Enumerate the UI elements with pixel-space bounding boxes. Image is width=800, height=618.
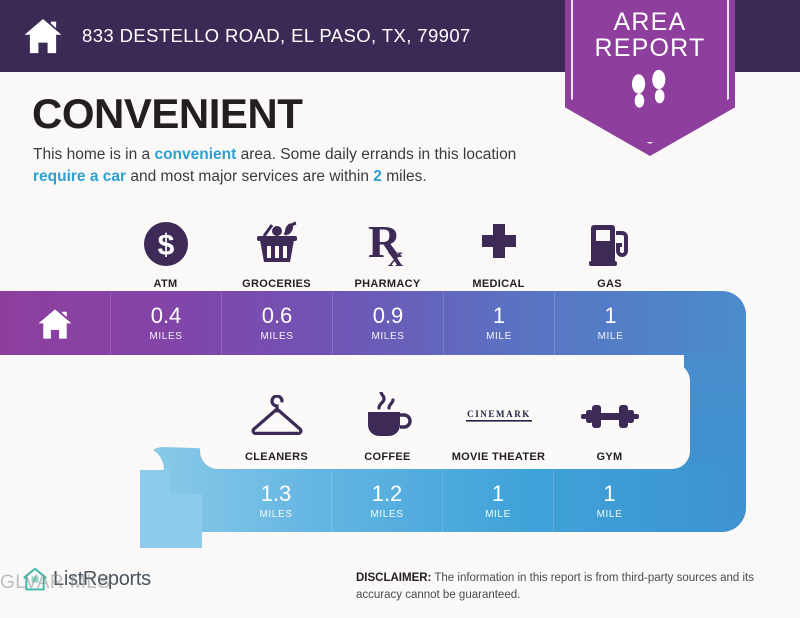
blurb-part-1: This home is in a bbox=[33, 146, 154, 163]
badge-line-1: AREA bbox=[614, 10, 687, 36]
distance-value: 1 bbox=[493, 305, 505, 327]
amenity-gym: GYM bbox=[554, 385, 665, 463]
distance-unit: MILES bbox=[149, 331, 182, 342]
blurb-part-2: area. Some daily errands in this locatio… bbox=[236, 146, 516, 163]
amenity-medical: MEDICAL bbox=[443, 210, 554, 290]
disclaimer-label: DISCLAIMER: bbox=[356, 572, 431, 584]
distance-cell-pharmacy: 0.9 MILES bbox=[333, 292, 444, 355]
distance-cell-groceries: 0.6 MILES bbox=[222, 292, 333, 355]
amenity-label: CLEANERS bbox=[245, 451, 308, 463]
home-origin-cell bbox=[0, 292, 111, 355]
footprints-icon bbox=[623, 69, 677, 113]
house-icon bbox=[36, 307, 74, 341]
distance-cell-medical: 1 MILE bbox=[444, 292, 555, 355]
amenity-label: MEDICAL bbox=[472, 278, 524, 290]
distance-cell-gym: 1 MILE bbox=[554, 470, 665, 532]
amenity-groceries: GROCERIES bbox=[221, 210, 332, 290]
distance-cell-cleaners: 1.3 MILES bbox=[221, 470, 332, 532]
gas-pump-icon bbox=[587, 219, 633, 269]
summary-text: This home is in a convenient area. Some … bbox=[33, 144, 573, 188]
rx-icon: R x bbox=[364, 219, 412, 269]
grocery-basket-icon bbox=[252, 219, 302, 269]
disclaimer: DISCLAIMER: The information in this repo… bbox=[356, 570, 776, 603]
amenity-row-2: CLEANERS COFFEE CINEMARK MOVIE THEATER bbox=[221, 385, 666, 463]
amenity-gas: GAS bbox=[554, 210, 665, 290]
amenity-coffee: COFFEE bbox=[332, 385, 443, 463]
amenity-label: GYM bbox=[597, 451, 623, 463]
distance-unit: MILE bbox=[597, 509, 623, 520]
blurb-highlight-require-car: require a car bbox=[33, 168, 126, 185]
distance-unit: MILES bbox=[259, 509, 292, 520]
distance-unit: MILE bbox=[485, 509, 511, 520]
amenity-label: GAS bbox=[597, 278, 622, 290]
amenity-label: ATM bbox=[154, 278, 178, 290]
svg-text:$: $ bbox=[157, 229, 174, 262]
blurb-highlight-convenient: convenient bbox=[154, 146, 236, 163]
cinemark-logo-icon: CINEMARK bbox=[456, 392, 542, 442]
blurb-highlight-miles: 2 bbox=[373, 168, 382, 185]
distance-unit: MILE bbox=[486, 331, 512, 342]
distance-value: 1 bbox=[492, 483, 504, 505]
amenity-pharmacy: R x PHARMACY bbox=[332, 210, 443, 290]
mls-watermark: GLVAR MLS bbox=[0, 572, 185, 594]
svg-text:CINEMARK: CINEMARK bbox=[467, 409, 531, 419]
distance-cell-coffee: 1.2 MILES bbox=[332, 470, 443, 532]
amenity-cleaners: CLEANERS bbox=[221, 385, 332, 463]
medical-cross-icon bbox=[476, 219, 522, 269]
area-report-badge: AREA REPORT bbox=[565, 0, 735, 156]
distance-row-2: 1.3 MILES 1.2 MILES 1 MILE 1 MILE bbox=[221, 470, 666, 532]
header-address: 833 DESTELLO ROAD, EL PASO, TX, 79907 bbox=[82, 25, 471, 47]
amenity-atm: $ ATM bbox=[110, 210, 221, 290]
blurb-part-4: miles. bbox=[382, 168, 427, 185]
amenity-label: MOVIE THEATER bbox=[452, 451, 546, 463]
coffee-cup-icon bbox=[362, 392, 414, 442]
amenity-row-1: $ ATM GROCERIES bbox=[110, 210, 666, 290]
house-icon bbox=[22, 15, 64, 57]
clothes-hanger-icon bbox=[249, 392, 305, 442]
distance-row-1: 0.4 MILES 0.6 MILES 0.9 MILES 1 MILE 1 M… bbox=[0, 292, 666, 355]
badge-line-2: REPORT bbox=[595, 36, 706, 62]
distance-cell-gas: 1 MILE bbox=[555, 292, 666, 355]
distance-cell-atm: 0.4 MILES bbox=[111, 292, 222, 355]
amenity-label: GROCERIES bbox=[242, 278, 311, 290]
page-title: CONVENIENT bbox=[32, 90, 302, 138]
distance-value: 1 bbox=[604, 305, 616, 327]
distance-cell-movie-theater: 1 MILE bbox=[443, 470, 554, 532]
distance-unit: MILE bbox=[598, 331, 624, 342]
area-report-page: 833 DESTELLO ROAD, EL PASO, TX, 79907 AR… bbox=[0, 0, 800, 618]
distance-value: 1 bbox=[603, 483, 615, 505]
distance-unit: MILES bbox=[371, 331, 404, 342]
distance-value: 0.4 bbox=[151, 305, 182, 327]
distance-unit: MILES bbox=[370, 509, 403, 520]
distance-value: 0.6 bbox=[262, 305, 293, 327]
dollar-circle-icon: $ bbox=[142, 219, 190, 269]
amenity-label: COFFEE bbox=[364, 451, 410, 463]
distance-value: 0.9 bbox=[373, 305, 404, 327]
distance-value: 1.3 bbox=[261, 483, 292, 505]
distance-value: 1.2 bbox=[372, 483, 403, 505]
svg-text:x: x bbox=[388, 240, 403, 269]
dumbbell-icon bbox=[580, 392, 640, 442]
amenity-label: PHARMACY bbox=[355, 278, 421, 290]
blurb-part-3: and most major services are within bbox=[126, 168, 373, 185]
amenity-movie-theater: CINEMARK MOVIE THEATER bbox=[443, 385, 554, 463]
distance-unit: MILES bbox=[260, 331, 293, 342]
